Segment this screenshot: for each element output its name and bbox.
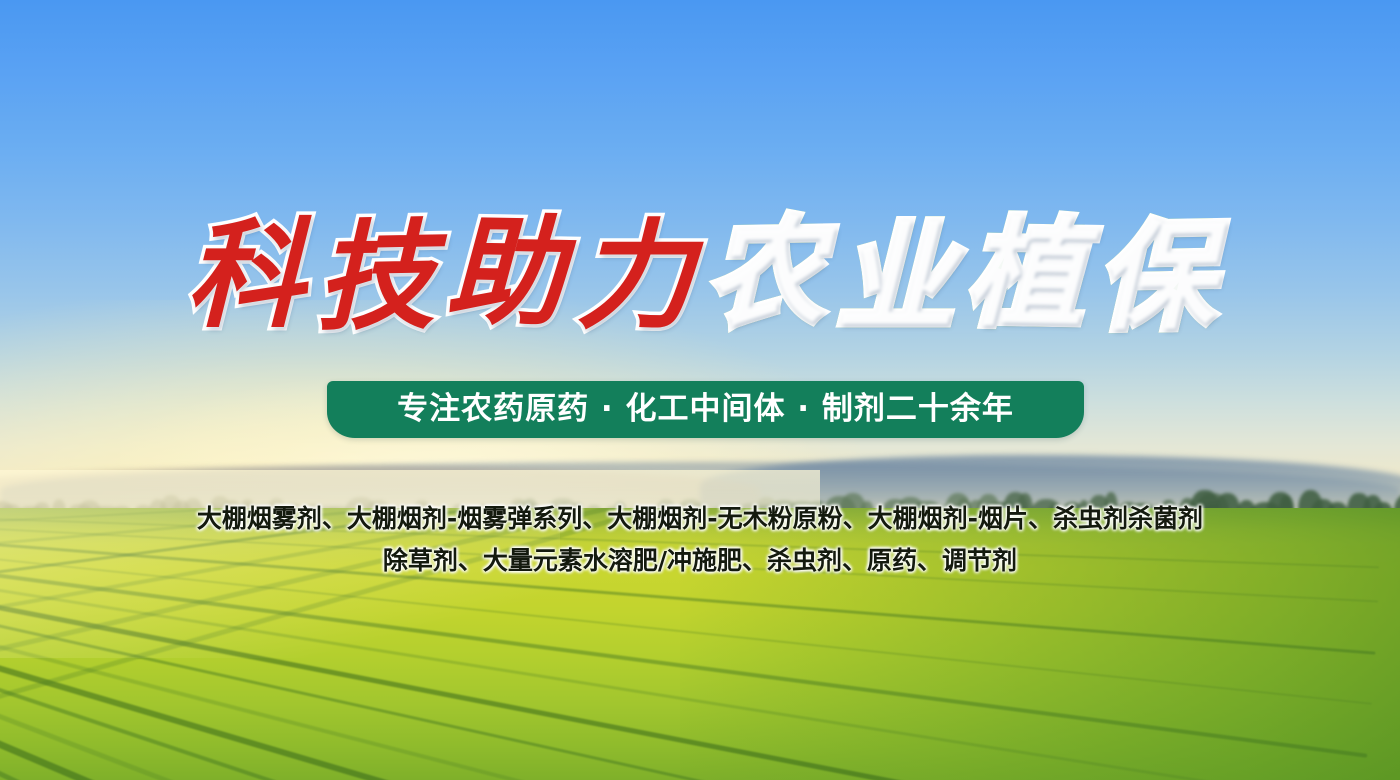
crop-field xyxy=(0,508,1400,780)
promo-banner: 科技助力农业植保 专注农药原药 · 化工中间体 · 制剂二十余年 大棚烟雾剂、大… xyxy=(0,0,1400,780)
field-right-shadow xyxy=(680,508,1400,780)
subtitle-banner-bar: 专注农药原药 · 化工中间体 · 制剂二十余年 xyxy=(327,381,1084,438)
subtitle-text: 专注农药原药 · 化工中间体 · 制剂二十余年 xyxy=(397,394,1014,425)
sky-background xyxy=(0,0,1400,520)
field-left-highlight xyxy=(0,508,560,658)
